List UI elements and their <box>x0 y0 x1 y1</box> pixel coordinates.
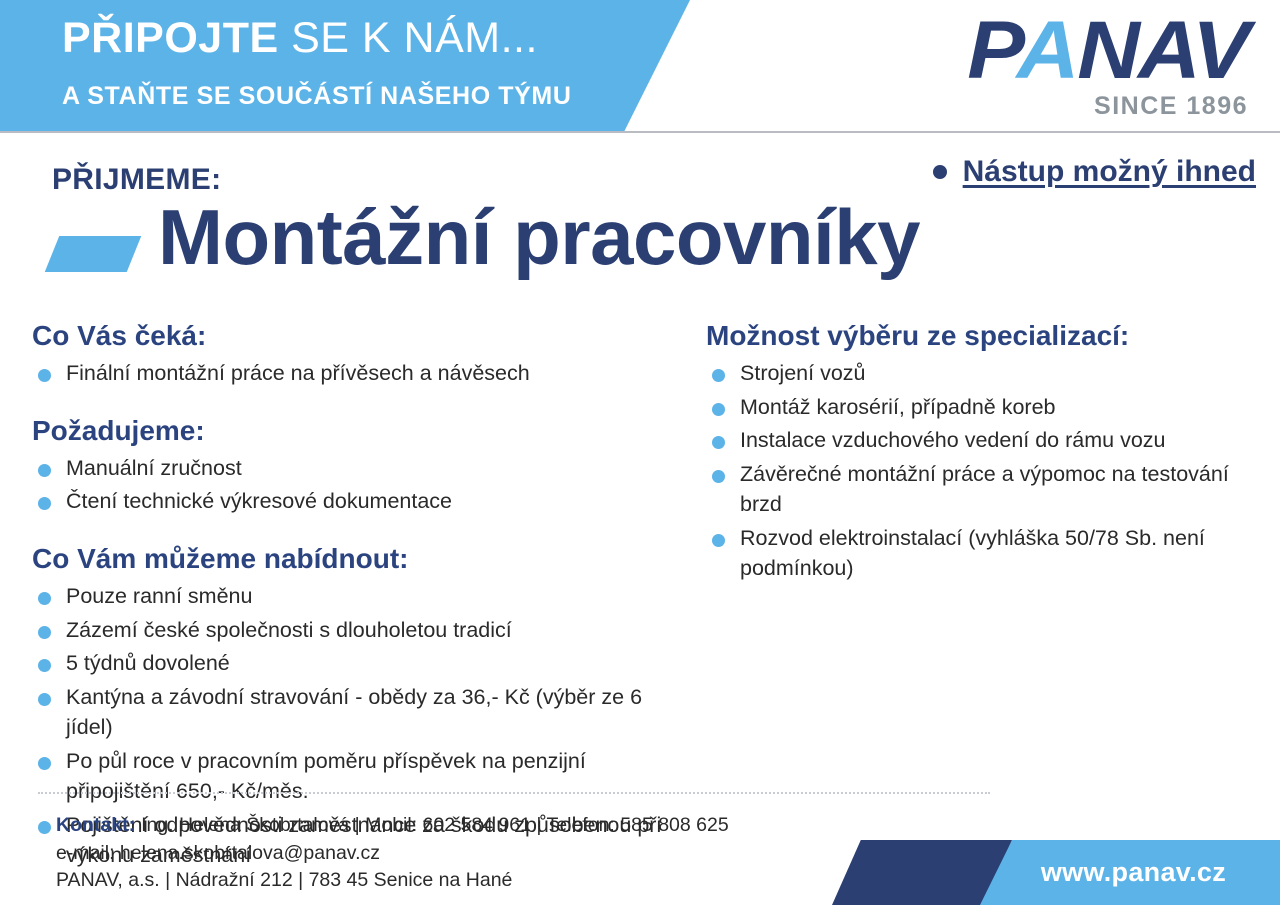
logo-since-tagline: SINCE 1896 <box>828 92 1248 121</box>
list-item-label: Strojení vozů <box>740 358 1266 389</box>
bullet-dot-icon <box>712 534 725 547</box>
list-item-label: Kantýna a závodní stravování - obědy za … <box>66 682 692 743</box>
header-headline-strong: PŘIPOJTE <box>62 14 279 62</box>
bullet-dot-icon <box>712 436 725 449</box>
bullet-dot-icon <box>38 757 51 770</box>
list-item-label: Manuální zručnost <box>66 453 692 484</box>
kicker-prijmeme: PŘIJMEME: <box>52 163 221 197</box>
header-divider-rule <box>0 131 1280 133</box>
list-item: Finální montážní práce na přívěsech a ná… <box>32 358 692 389</box>
list-item-label: Zázemí české společnosti s dlouholetou t… <box>66 615 692 646</box>
bullet-dot-icon <box>712 369 725 382</box>
list-item: Strojení vozů <box>706 358 1266 389</box>
contact-address-line: PANAV, a.s. | Nádražní 212 | 783 45 Seni… <box>56 867 729 895</box>
list-item: Rozvod elektroinstalací (vyhláška 50/78 … <box>706 523 1266 584</box>
list-item-label: 5 týdnů dovolené <box>66 648 692 679</box>
list-item-label: Finální montážní práce na přívěsech a ná… <box>66 358 692 389</box>
bullet-dot-icon <box>38 821 51 834</box>
contact-email-line[interactable]: e-mail: helena.skobrtalova@panav.cz <box>56 840 729 868</box>
logo-letter-p: P <box>967 5 1016 96</box>
bullet-list: Strojení vozů Montáž karosérií, případně… <box>706 358 1266 584</box>
bullet-list: Manuální zručnost Čtení technické výkres… <box>32 453 692 517</box>
bullet-dot-icon <box>712 403 725 416</box>
list-item-label: Pouze ranní směnu <box>66 581 692 612</box>
bullet-dot-icon <box>38 464 51 477</box>
list-item-label: Po půl roce v pracovním poměru příspěvek… <box>66 746 692 807</box>
website-footer-bar: www.panav.cz <box>832 840 1280 905</box>
section-pozadujeme: Požadujeme: Manuální zručnost Čtení tech… <box>32 415 692 517</box>
left-content-column: Co Vás čeká: Finální montážní práce na p… <box>32 320 692 874</box>
job-advertisement-poster: PŘIPOJTE SE K NÁM... A STAŇTE SE SOUČÁST… <box>0 0 1280 905</box>
bullet-dot-icon <box>38 369 51 382</box>
logo-letter-a-accent: A <box>1017 5 1078 96</box>
contact-line-1: Kontakt:Ing. Helena Škobrtalová | Mobil:… <box>56 812 729 840</box>
bullet-dot-icon <box>38 659 51 672</box>
list-item: Montáž karosérií, případně koreb <box>706 392 1266 423</box>
right-content-column: Možnost výběru ze specializací: Strojení… <box>706 320 1266 587</box>
list-item-label: Rozvod elektroinstalací (vyhláška 50/78 … <box>740 523 1266 584</box>
section-co-vas-ceka: Co Vás čeká: Finální montážní práce na p… <box>32 320 692 389</box>
footer-divider <box>38 792 990 794</box>
section-heading: Možnost výběru ze specializací: <box>706 320 1266 352</box>
bullet-dot-icon <box>38 626 51 639</box>
start-date-badge: Nástup možný ihned <box>933 155 1256 189</box>
header-headline-light: SE K NÁM... <box>279 14 538 62</box>
list-item-label: Závěrečné montážní práce a výpomoc na te… <box>740 459 1266 520</box>
list-item-label: Montáž karosérií, případně koreb <box>740 392 1266 423</box>
page-title: Montážní pracovníky <box>158 198 920 276</box>
list-item: Po půl roce v pracovním poměru příspěvek… <box>32 746 692 807</box>
section-heading: Co Vás čeká: <box>32 320 692 352</box>
bullet-dot-icon <box>38 693 51 706</box>
website-url[interactable]: www.panav.cz <box>832 840 1280 905</box>
list-item-label: Čtení technické výkresové dokumentace <box>66 486 692 517</box>
list-item: Pouze ranní směnu <box>32 581 692 612</box>
start-date-badge-text: Nástup možný ihned <box>963 155 1256 189</box>
list-item: Čtení technické výkresové dokumentace <box>32 486 692 517</box>
header-subheadline: A STAŇTE SE SOUČÁSTÍ NAŠEHO TÝMU <box>62 84 572 109</box>
section-heading: Co Vám můžeme nabídnout: <box>32 543 692 575</box>
list-item: Zázemí české společnosti s dlouholetou t… <box>32 615 692 646</box>
bullet-dot-icon <box>933 165 947 179</box>
list-item-label: Instalace vzduchového vedení do rámu voz… <box>740 425 1266 456</box>
panav-logo: PANAV SINCE 1896 <box>828 12 1248 121</box>
bullet-dot-icon <box>38 497 51 510</box>
section-specializace: Možnost výběru ze specializací: Strojení… <box>706 320 1266 584</box>
bullet-list: Finální montážní práce na přívěsech a ná… <box>32 358 692 389</box>
parallelogram-marker-icon <box>45 236 142 272</box>
list-item: Manuální zručnost <box>32 453 692 484</box>
list-item: Závěrečné montážní práce a výpomoc na te… <box>706 459 1266 520</box>
bullet-dot-icon <box>712 470 725 483</box>
list-item: 5 týdnů dovolené <box>32 648 692 679</box>
header-headline: PŘIPOJTE SE K NÁM... <box>62 17 538 60</box>
logo-wordmark: PANAV <box>803 12 1248 90</box>
logo-letters-nav: NAV <box>1077 5 1248 96</box>
list-item: Kantýna a závodní stravování - obědy za … <box>32 682 692 743</box>
contact-label: Kontakt: <box>56 814 135 836</box>
bullet-dot-icon <box>38 592 51 605</box>
list-item: Instalace vzduchového vedení do rámu voz… <box>706 425 1266 456</box>
contact-block: Kontakt:Ing. Helena Škobrtalová | Mobil:… <box>56 812 729 895</box>
job-title-row: Montážní pracovníky <box>52 198 920 276</box>
section-heading: Požadujeme: <box>32 415 692 447</box>
contact-person-phone: Ing. Helena Škobrtalová | Mobil: 602 584… <box>141 814 729 836</box>
